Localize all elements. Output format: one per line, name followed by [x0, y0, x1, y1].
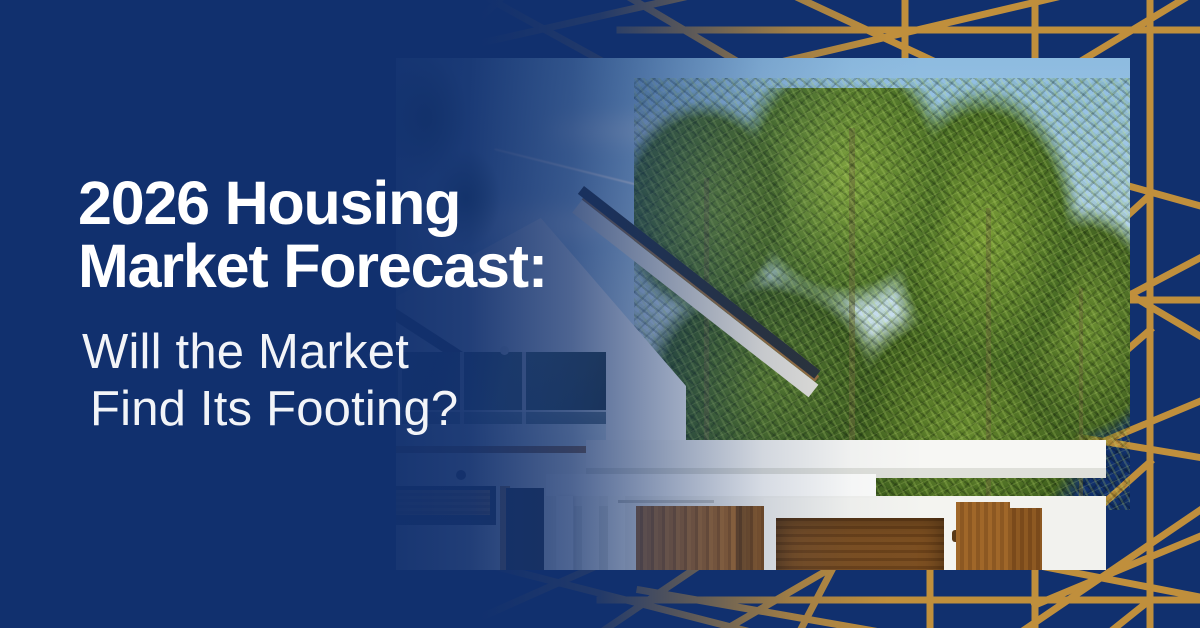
- headline-block: 2026 Housing Market Forecast: Will the M…: [78, 172, 678, 438]
- page-title: 2026 Housing Market Forecast:: [78, 172, 678, 298]
- subtitle: Will the Market Find Its Footing?: [82, 324, 678, 438]
- subtitle-line-2: Find Its Footing?: [90, 381, 678, 438]
- headline-line-2: Market Forecast:: [78, 235, 678, 298]
- headline-line-1: 2026 Housing: [78, 172, 678, 235]
- housing-forecast-banner: 2026 Housing Market Forecast: Will the M…: [0, 0, 1200, 628]
- subtitle-line-1: Will the Market: [82, 324, 678, 381]
